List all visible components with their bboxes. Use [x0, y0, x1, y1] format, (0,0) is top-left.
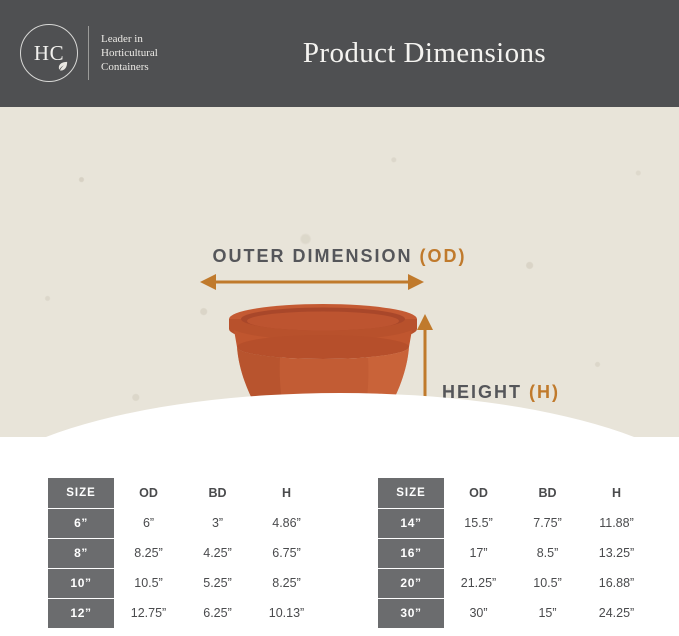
table-row: 12” 12.75” 6.25” 10.13”: [48, 598, 321, 628]
column-header-size: SIZE: [378, 478, 444, 508]
page-title: Product Dimensions: [0, 0, 679, 107]
table-header-row: SIZE OD BD H: [378, 478, 651, 508]
cell-size: 20”: [378, 568, 444, 598]
dimension-table-right: SIZE OD BD H 14” 15.5” 7.75” 11.88” 16” …: [378, 478, 651, 628]
dimension-table-left: SIZE OD BD H 6” 6” 3” 4.86” 8” 8.25” 4.2…: [48, 478, 321, 628]
column-header-od: OD: [444, 478, 513, 508]
column-header-od: OD: [114, 478, 183, 508]
cell-h: 11.88”: [582, 508, 651, 538]
cell-h: 16.88”: [582, 568, 651, 598]
dimension-diagram: OUTER DIMENSION (OD) HEIGHT (H) B: [0, 107, 679, 437]
table-row: 14” 15.5” 7.75” 11.88”: [378, 508, 651, 538]
table-row: 6” 6” 3” 4.86”: [48, 508, 321, 538]
cell-od: 6”: [114, 508, 183, 538]
cell-size: 12”: [48, 598, 114, 628]
product-dimensions-page: HC Leader in Horticultural Containers Pr…: [0, 0, 679, 636]
table-header-row: SIZE OD BD H: [48, 478, 321, 508]
column-header-size: SIZE: [48, 478, 114, 508]
cell-bd: 3”: [183, 508, 252, 538]
cell-od: 8.25”: [114, 538, 183, 568]
cell-od: 10.5”: [114, 568, 183, 598]
cell-size: 10”: [48, 568, 114, 598]
cell-h: 4.86”: [252, 508, 321, 538]
outer-dimension-arrow: [200, 270, 424, 294]
height-abbr: (H): [529, 382, 560, 402]
cell-h: 24.25”: [582, 598, 651, 628]
table-row: 8” 8.25” 4.25” 6.75”: [48, 538, 321, 568]
cell-bd: 8.5”: [513, 538, 582, 568]
cell-size: 16”: [378, 538, 444, 568]
column-header-bd: BD: [513, 478, 582, 508]
cell-od: 12.75”: [114, 598, 183, 628]
cell-h: 13.25”: [582, 538, 651, 568]
cell-h: 10.13”: [252, 598, 321, 628]
cell-od: 15.5”: [444, 508, 513, 538]
cell-size: 8”: [48, 538, 114, 568]
table-row: 16” 17” 8.5” 13.25”: [378, 538, 651, 568]
cell-bd: 6.25”: [183, 598, 252, 628]
cell-size: 30”: [378, 598, 444, 628]
table-row: 30” 30” 15” 24.25”: [378, 598, 651, 628]
page-header: HC Leader in Horticultural Containers Pr…: [0, 0, 679, 107]
column-header-h: H: [252, 478, 321, 508]
cell-bd: 7.75”: [513, 508, 582, 538]
column-header-h: H: [582, 478, 651, 508]
cell-od: 30”: [444, 598, 513, 628]
cell-od: 21.25”: [444, 568, 513, 598]
outer-dimension-abbr: (OD): [420, 246, 467, 266]
table-row: 20” 21.25” 10.5” 16.88”: [378, 568, 651, 598]
cell-od: 17”: [444, 538, 513, 568]
outer-dimension-text: OUTER DIMENSION: [212, 246, 412, 266]
column-header-bd: BD: [183, 478, 252, 508]
cell-bd: 5.25”: [183, 568, 252, 598]
table-row: 10” 10.5” 5.25” 8.25”: [48, 568, 321, 598]
cell-bd: 15”: [513, 598, 582, 628]
cell-h: 6.75”: [252, 538, 321, 568]
cell-h: 8.25”: [252, 568, 321, 598]
cell-bd: 10.5”: [513, 568, 582, 598]
cell-size: 14”: [378, 508, 444, 538]
outer-dimension-label: OUTER DIMENSION (OD): [0, 246, 679, 267]
cell-size: 6”: [48, 508, 114, 538]
cell-bd: 4.25”: [183, 538, 252, 568]
